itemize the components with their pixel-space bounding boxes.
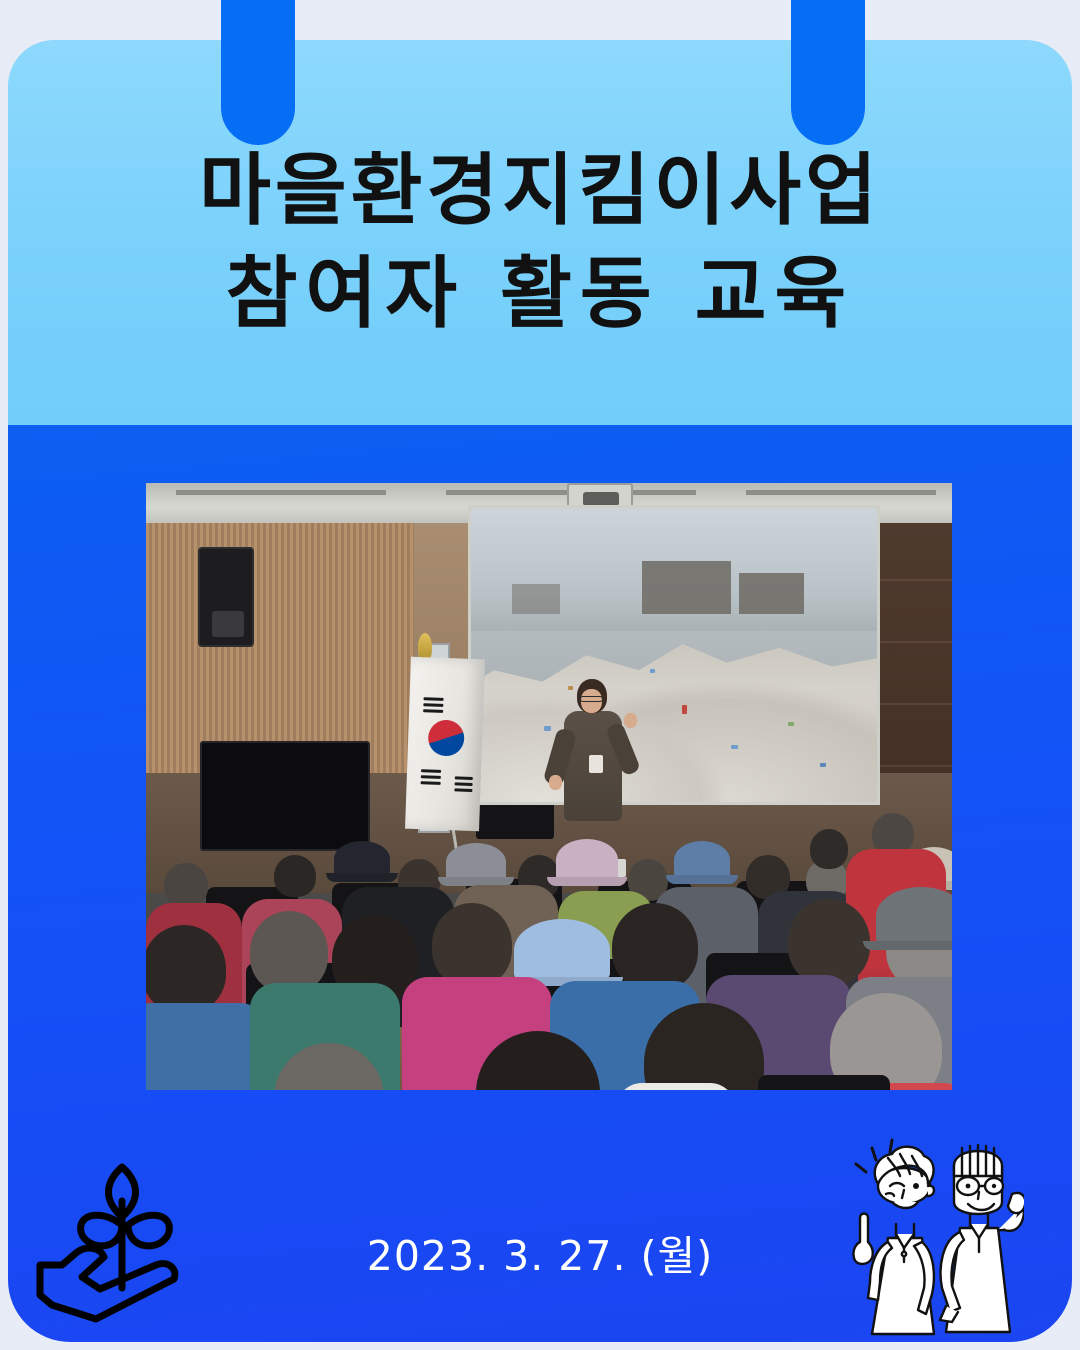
photo-audience-bandana xyxy=(514,919,610,981)
screen-ruin xyxy=(642,561,731,614)
poster-root: 마을환경지킴이사업 참여자 활동 교육 xyxy=(0,0,1080,1350)
photo-audience-head xyxy=(164,863,208,907)
photo-projection-screen xyxy=(468,505,880,805)
photo-presenter-badge xyxy=(589,755,603,773)
photo-audience-cap xyxy=(876,887,952,945)
photo-audience-head xyxy=(788,899,870,985)
photo-presenter-hand xyxy=(549,775,562,790)
photo-audience-hat xyxy=(556,839,618,881)
photo-wall-wood-slats xyxy=(146,519,414,779)
photo-chair xyxy=(758,1075,890,1090)
screen-trash-speck xyxy=(544,726,551,731)
photo-audience-cap xyxy=(446,843,506,881)
screen-trash-speck xyxy=(820,763,826,767)
photo-audience-head xyxy=(612,903,698,991)
poster-title-line-2: 참여자 활동 교육 xyxy=(0,243,1080,346)
photo-audience-head xyxy=(250,911,328,993)
photo-audience-cap xyxy=(674,841,730,879)
photo-audience-head xyxy=(274,855,316,897)
screen-trash-speck xyxy=(650,669,655,673)
poster-title-block: 마을환경지킴이사업 참여자 활동 교육 xyxy=(0,140,1080,346)
screen-trash-pile xyxy=(468,614,880,802)
photo-presenter-glasses xyxy=(580,696,603,702)
photo-audience-head xyxy=(810,829,848,869)
taeguk-symbol xyxy=(428,719,465,756)
photo-audience-floral-jacket xyxy=(616,1083,736,1090)
plant-in-hand-icon xyxy=(34,1153,200,1323)
photo-audience-head xyxy=(432,903,512,987)
screen-trash-speck xyxy=(568,686,573,690)
hanger-tab-right xyxy=(791,0,865,145)
event-photo-content: 진천군노인복지관 (주)문화상사 진천군노인복지관 (주)문화상사 진천군노인복… xyxy=(146,483,952,1090)
screen-trash-speck xyxy=(788,722,794,726)
event-photo: 진천군노인복지관 (주)문화상사 진천군노인복지관 (주)문화상사 진천군노인복… xyxy=(146,483,952,1090)
ceiling-strip xyxy=(176,490,386,495)
elderly-couple-illustration-icon xyxy=(842,1136,1024,1344)
screen-trash-speck xyxy=(731,745,738,749)
photo-audience-cap xyxy=(334,841,390,877)
photo-presenter-hand xyxy=(624,713,637,728)
photo-wall-speaker xyxy=(198,547,254,647)
photo-korean-flag xyxy=(405,657,485,831)
screen-ruin xyxy=(512,584,561,613)
photo-tv-panel xyxy=(200,741,370,851)
hanger-tab-left xyxy=(221,0,295,145)
screen-trash-speck xyxy=(682,705,687,714)
screen-ruin xyxy=(739,573,804,614)
photo-audience-body xyxy=(146,1003,266,1090)
poster-title-line-1: 마을환경지킴이사업 xyxy=(0,140,1080,243)
ceiling-strip xyxy=(746,490,936,495)
photo-audience-head xyxy=(146,925,226,1013)
